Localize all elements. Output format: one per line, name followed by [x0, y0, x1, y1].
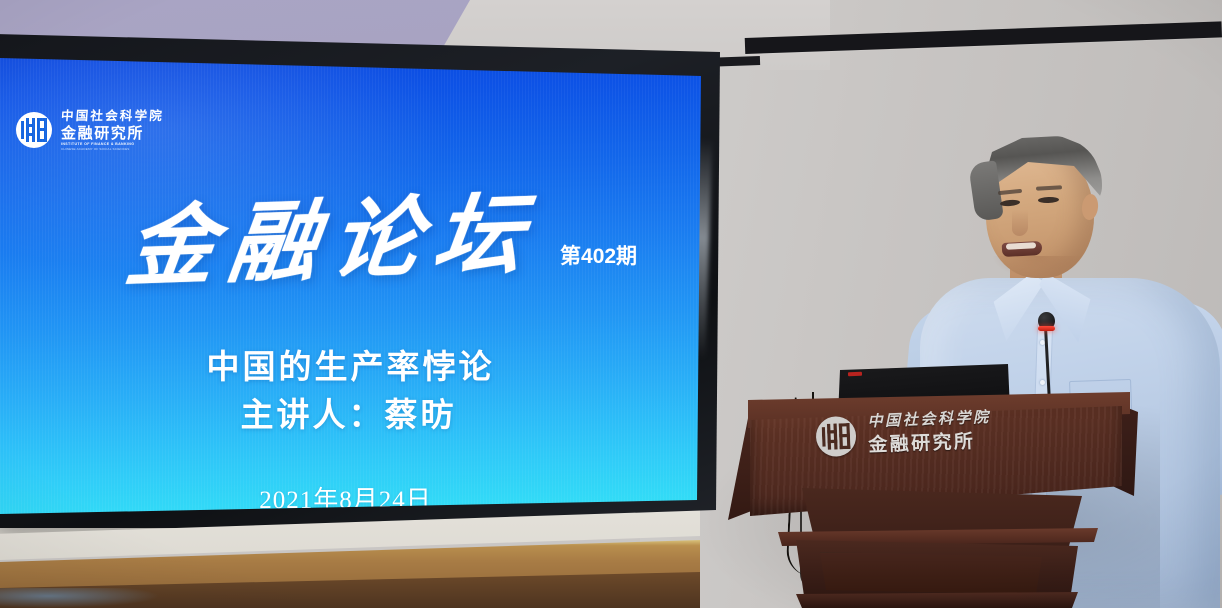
slide-speaker-line: 主讲人：蔡昉	[0, 388, 700, 436]
podium-foot	[796, 592, 1078, 608]
slide-lecture-title: 中国的生产率悖论	[0, 340, 702, 388]
slide-logo-text: 中国社会科学院 金融研究所 INSTITUTE OF FINANCE & BAN…	[61, 110, 164, 151]
slide-issue-number: 第402期	[560, 240, 637, 270]
slide-logo-line-cn1: 中国社会科学院	[61, 110, 165, 123]
podium: 中国社会科学院 金融研究所	[720, 392, 1140, 608]
podium-institution-logo: 中国社会科学院 金融研究所	[815, 411, 992, 457]
chin-shadow	[992, 256, 1082, 278]
presentation-slide: 中国社会科学院 金融研究所 INSTITUTE OF FINANCE & BAN…	[0, 44, 703, 517]
presentation-display: 中国社会科学院 金融研究所 INSTITUTE OF FINANCE & BAN…	[0, 18, 724, 528]
slide-logo-line-cn2: 金融研究所	[61, 126, 164, 141]
lecture-hall-photo: 中国社会科学院 金融研究所 INSTITUTE OF FINANCE & BAN…	[0, 0, 1222, 608]
ifb-monogram-icon	[16, 112, 52, 148]
podium-logo-text: 中国社会科学院 金融研究所	[867, 411, 992, 455]
display-panel: 中国社会科学院 金融研究所 INSTITUTE OF FINANCE & BAN…	[0, 44, 703, 517]
podium-base-panel	[816, 552, 1046, 594]
ifb-monogram-icon	[815, 416, 856, 457]
laptop-logo-icon	[848, 372, 862, 376]
slide-logo-line-en2: CHINESE ACADEMY OF SOCIAL SCIENCES	[61, 148, 164, 151]
slide-title-row: 金融论坛 第402期	[128, 196, 637, 284]
podium-logo-line-cn2: 金融研究所	[868, 432, 992, 456]
slide-calligraphy-title: 金融论坛	[122, 189, 543, 291]
microphone-indicator-light	[1038, 326, 1055, 331]
shirt-button	[1040, 380, 1045, 385]
nose	[1012, 210, 1028, 236]
slide-institution-logo: 中国社会科学院 金融研究所 INSTITUTE OF FINANCE & BAN…	[16, 110, 164, 151]
podium-logo-line-cn1: 中国社会科学院	[867, 411, 991, 431]
floor-reflection	[0, 588, 160, 608]
